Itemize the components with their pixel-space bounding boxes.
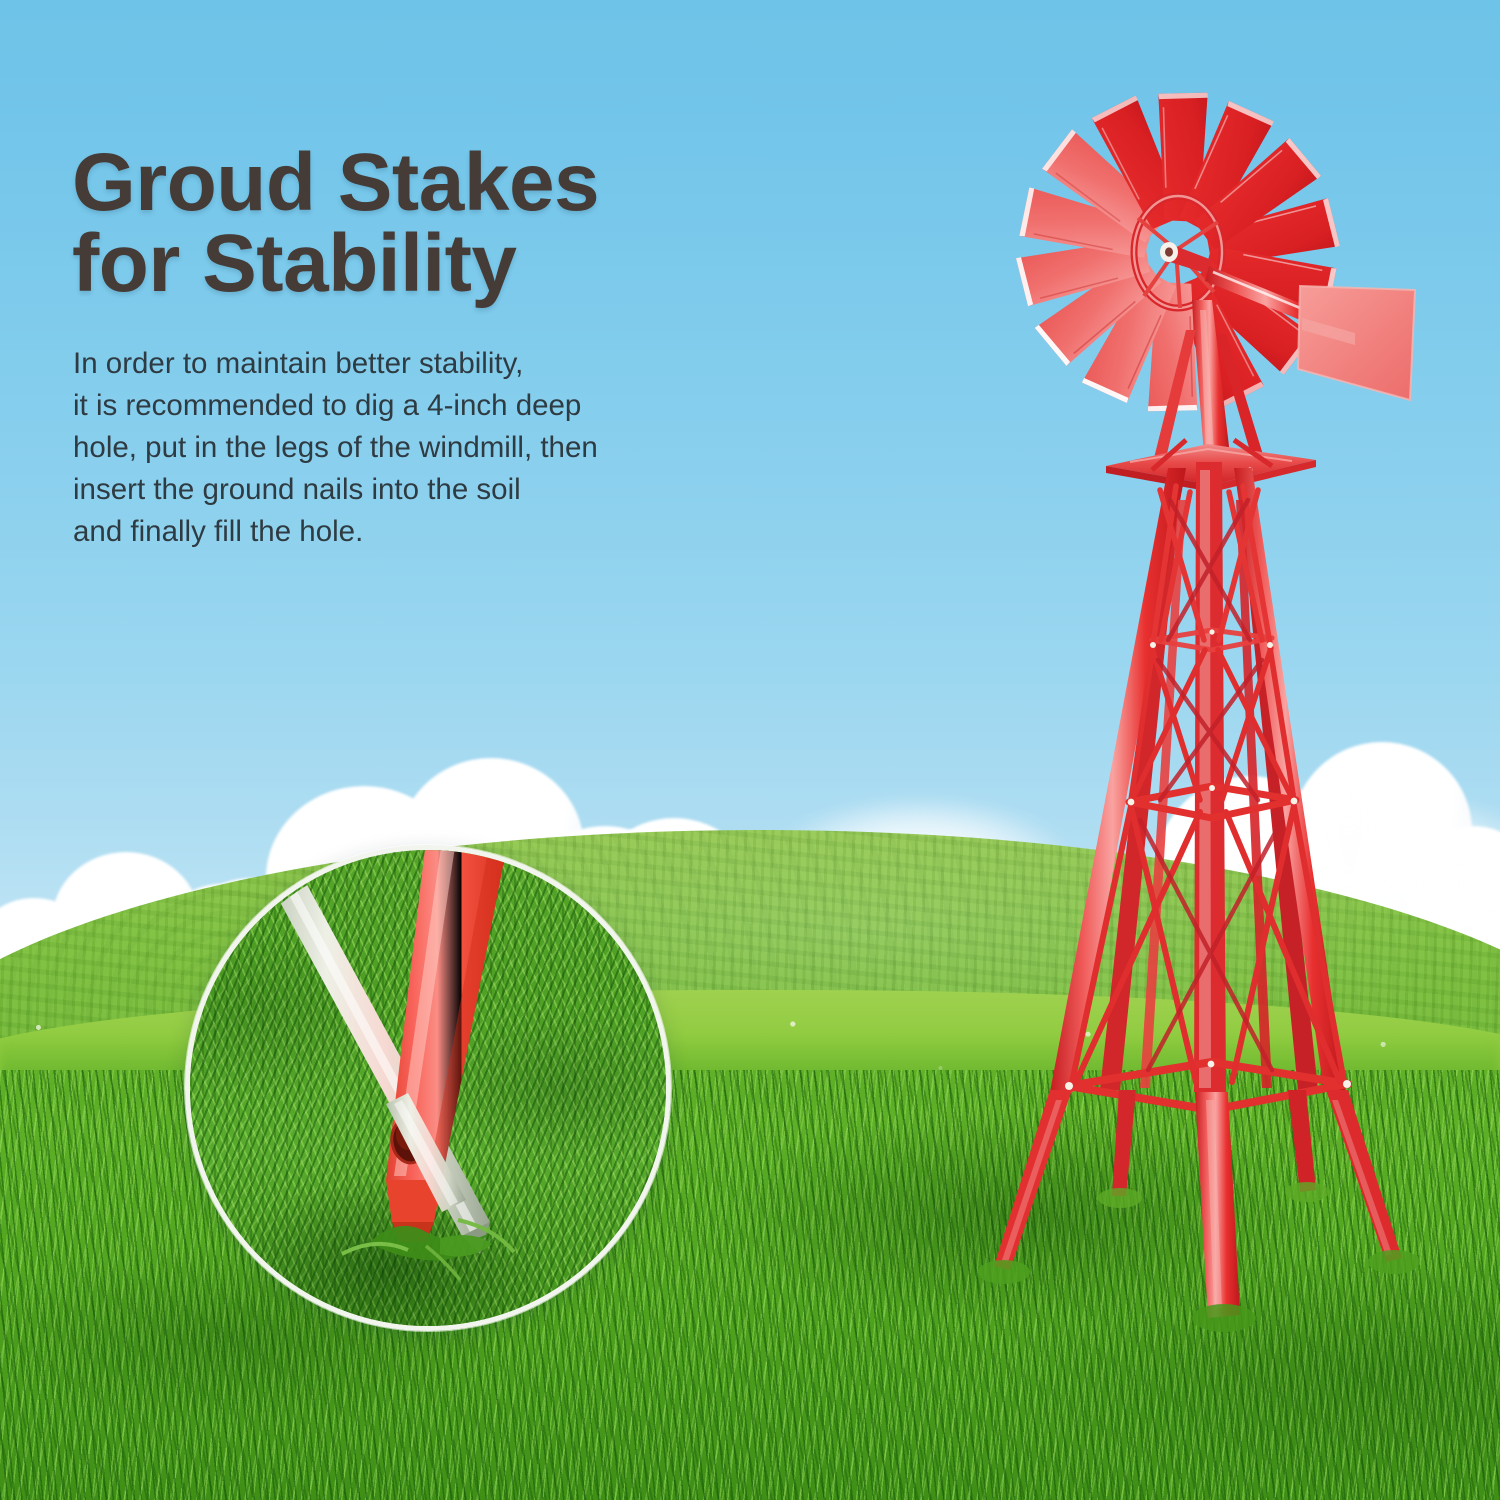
headline-line-2: for Stability bbox=[72, 223, 852, 304]
body-line-5: and finally fill the hole. bbox=[73, 511, 833, 553]
ground-stake-detail-photo bbox=[185, 845, 671, 1331]
body-line-1: In order to maintain better stability, bbox=[73, 343, 833, 385]
windmill-lattice-tower bbox=[1050, 462, 1351, 1112]
product-feature-image: Groud Stakes for Stability In order to m… bbox=[0, 0, 1500, 1500]
body-line-3: hole, put in the legs of the windmill, t… bbox=[73, 427, 833, 469]
body-line-2: it is recommended to dig a 4-inch deep bbox=[73, 385, 833, 427]
windmill-ground-legs bbox=[978, 1090, 1420, 1332]
body-line-4: insert the ground nails into the soil bbox=[73, 469, 833, 511]
page-title: Groud Stakes for Stability bbox=[72, 142, 852, 304]
headline-line-1: Groud Stakes bbox=[72, 142, 852, 223]
description-text: In order to maintain better stability, i… bbox=[73, 343, 833, 552]
